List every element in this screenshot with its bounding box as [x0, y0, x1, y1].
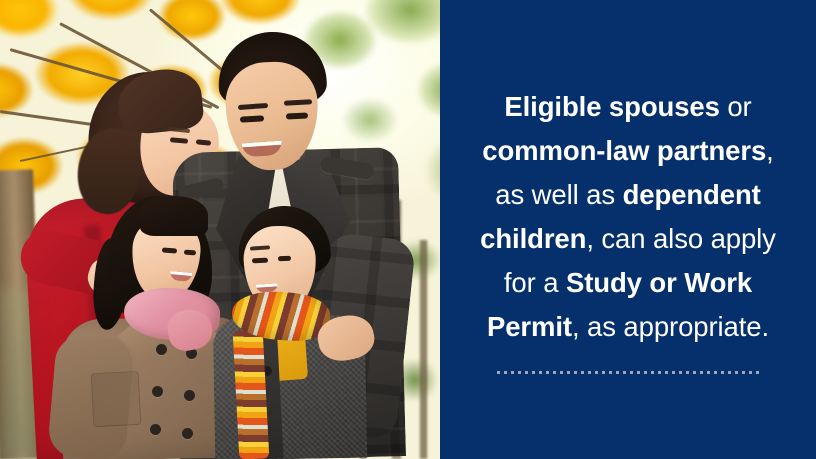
divider-dot	[602, 371, 605, 374]
divider-dot	[665, 371, 668, 374]
divider-dot	[693, 371, 696, 374]
family-photo	[0, 0, 440, 459]
divider-dot	[728, 371, 731, 374]
divider-dot	[553, 371, 556, 374]
headline-segment: ,	[766, 135, 774, 166]
divider-dot	[672, 371, 675, 374]
father-eye	[286, 112, 308, 119]
divider-dot	[581, 371, 584, 374]
coat-button	[182, 428, 193, 439]
headline-segment: Eligible spouses	[504, 91, 719, 122]
divider-dot	[658, 371, 661, 374]
divider-dot	[504, 371, 507, 374]
headline-segment: as well as	[495, 179, 622, 210]
headline-segment: or	[720, 91, 752, 122]
divider-dot	[637, 371, 640, 374]
headline-segment: dependent	[623, 179, 761, 210]
divider-dot	[518, 371, 521, 374]
divider-dot	[630, 371, 633, 374]
coat-button	[150, 424, 161, 435]
background-tree-trunk	[420, 240, 427, 459]
divider-dot	[567, 371, 570, 374]
coat-button	[156, 344, 167, 355]
daughter-eye	[162, 247, 177, 253]
photo-scene	[0, 0, 440, 459]
divider-dot	[742, 371, 745, 374]
divider-dot	[595, 371, 598, 374]
headline-segment: common-law partners	[482, 135, 766, 166]
divider-dot	[588, 371, 591, 374]
divider-dot	[707, 371, 710, 374]
divider-dot	[735, 371, 738, 374]
son-eye	[252, 258, 268, 264]
coat-button	[152, 386, 163, 397]
slide-root: Eligible spouses orcommon-law partners,a…	[0, 0, 816, 459]
divider-dot	[651, 371, 654, 374]
divider-dot	[623, 371, 626, 374]
daughter-coat-pocket	[91, 371, 142, 427]
headline-text: Eligible spouses orcommon-law partners,a…	[480, 85, 776, 349]
divider-dot	[497, 371, 500, 374]
headline-segment: , as appropriate.	[572, 311, 769, 342]
divider-dot	[574, 371, 577, 374]
divider-dot	[609, 371, 612, 374]
divider-dot	[539, 371, 542, 374]
message-panel: Eligible spouses orcommon-law partners,a…	[440, 0, 816, 459]
divider-dot	[511, 371, 514, 374]
divider-dot	[700, 371, 703, 374]
divider-dot	[616, 371, 619, 374]
divider-dot	[749, 371, 752, 374]
headline-segment: for a	[504, 267, 566, 298]
divider-dot	[546, 371, 549, 374]
daughter-bangs	[140, 196, 208, 236]
divider-dot	[714, 371, 717, 374]
headline-segment: Study or Work	[566, 267, 752, 298]
divider-dot	[679, 371, 682, 374]
divider-dot	[525, 371, 528, 374]
son-eye	[278, 256, 291, 261]
divider-dot	[721, 371, 724, 374]
dotted-divider	[497, 371, 759, 374]
divider-dot	[644, 371, 647, 374]
headline-segment: Permit	[487, 311, 572, 342]
daughter-eye	[184, 250, 196, 256]
divider-dot	[532, 371, 535, 374]
divider-dot	[686, 371, 689, 374]
father-eye	[240, 115, 264, 122]
divider-dot	[560, 371, 563, 374]
headline-segment: children	[480, 223, 586, 254]
divider-dot	[756, 371, 759, 374]
headline-segment: , can also apply	[586, 223, 776, 254]
coat-button	[184, 390, 195, 401]
